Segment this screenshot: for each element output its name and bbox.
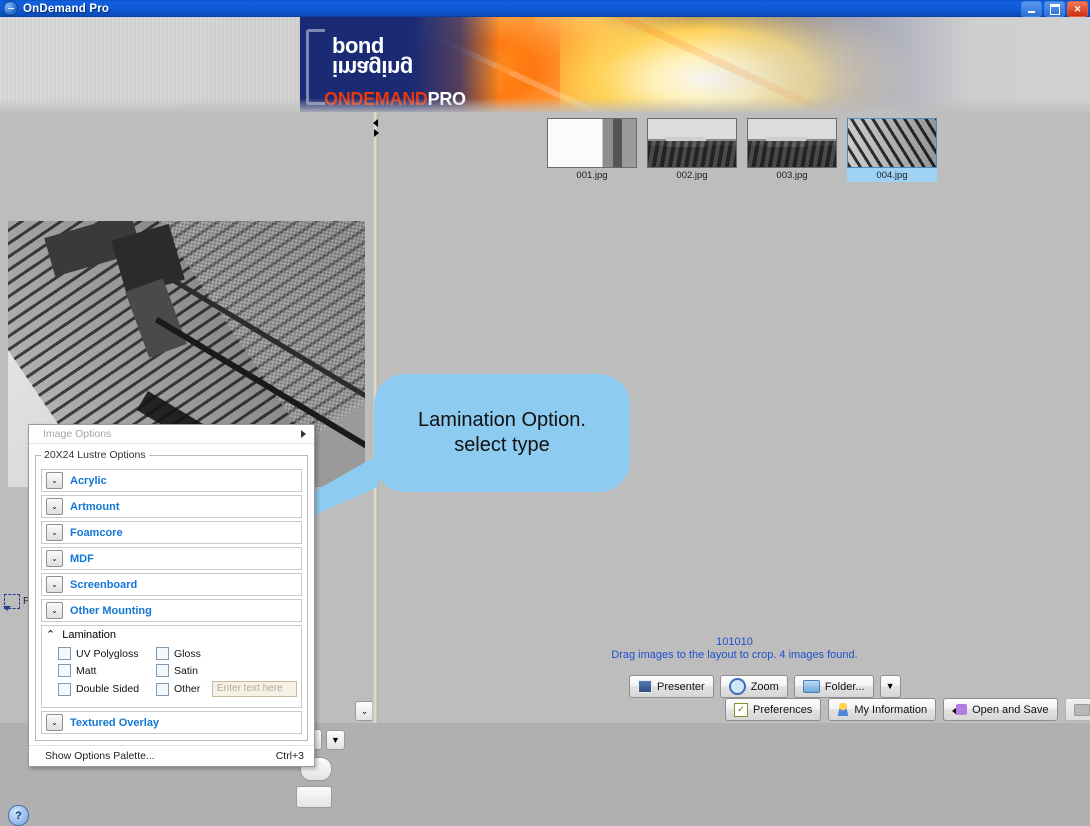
zoom-label: Zoom (751, 681, 779, 693)
collapse-icon[interactable]: ⌃ (46, 628, 55, 641)
close-button[interactable]: ✕ (1067, 1, 1088, 17)
lamination-header[interactable]: ⌃ Lamination (46, 628, 297, 641)
expand-icon[interactable]: ⌄ (46, 550, 63, 567)
thumbnail-item-selected[interactable]: 004.jpg (847, 118, 937, 182)
thumbnail-image[interactable] (747, 118, 837, 168)
folder-label: Folder... (825, 681, 865, 693)
show-options-palette-shortcut: Ctrl+3 (276, 750, 304, 762)
checkbox-box[interactable] (58, 683, 71, 696)
option-label: Lamination (62, 629, 116, 641)
preferences-label: Preferences (753, 704, 812, 716)
thumbnail-item[interactable]: 003.jpg (747, 118, 837, 182)
crop-icon (4, 594, 20, 609)
my-information-label: My Information (854, 704, 927, 716)
folder-dropdown-button[interactable]: ▼ (880, 675, 901, 698)
chevron-down-icon: ▼ (886, 682, 895, 691)
checkbox-uv-polygloss[interactable]: UV Polygloss (58, 647, 156, 660)
splitter-arrows[interactable] (372, 118, 379, 140)
preferences-icon: ✓ (734, 703, 748, 717)
image-options-popup-menu[interactable]: Image Options 20X24 Lustre Options ⌄ Acr… (28, 424, 315, 767)
option-row-lamination-expanded[interactable]: ⌃ Lamination UV Polygloss Gloss (41, 625, 302, 708)
logo-bracket-icon (306, 29, 325, 105)
status-message: Drag images to the layout to crop. 4 ima… (379, 649, 1090, 661)
zoom-button[interactable]: Zoom (720, 675, 788, 698)
option-label: Screenboard (70, 579, 137, 591)
thumbnail-label: 002.jpg (647, 168, 737, 182)
user-icon (837, 703, 849, 716)
checkbox-box[interactable] (58, 664, 71, 677)
window-controls: ✕ (1021, 1, 1088, 17)
option-row-foamcore[interactable]: ⌄ Foamcore (41, 521, 302, 544)
open-and-save-button[interactable]: Open and Save (943, 698, 1057, 721)
review-order-button: Review Order (1065, 698, 1090, 721)
thumbnail-label: 004.jpg (847, 168, 937, 182)
callout-balloon: Lamination Option. select type (374, 374, 630, 492)
other-text-input[interactable]: Enter text here (212, 681, 297, 697)
folder-button[interactable]: Folder... (794, 675, 874, 698)
lamination-checkbox-grid: UV Polygloss Gloss Matt Satin (58, 647, 297, 697)
option-label: Artmount (70, 501, 120, 513)
maximize-button[interactable] (1044, 1, 1065, 17)
checkbox-matt[interactable]: Matt (58, 664, 156, 677)
hidden-folder-button[interactable] (296, 786, 332, 808)
menu-item-image-options[interactable]: Image Options (29, 425, 314, 444)
callout-line-2: select type (454, 433, 550, 458)
expand-icon[interactable]: ⌄ (46, 498, 63, 515)
thumbnail-strip: 001.jpg 002.jpg 003.jpg 004.jpg (547, 118, 937, 182)
checkbox-label: Double Sided (76, 683, 139, 695)
zoom-icon (729, 678, 746, 695)
checkbox-box[interactable] (58, 647, 71, 660)
submenu-arrow-icon (301, 430, 306, 438)
show-options-palette-label: Show Options Palette... (45, 750, 155, 762)
checkbox-line: Matt Satin (58, 664, 297, 677)
checkbox-line: UV Polygloss Gloss (58, 647, 297, 660)
expand-icon[interactable]: ⌄ (46, 602, 63, 619)
view-toolbar: Presenter Zoom Folder... ▼ (629, 675, 901, 698)
option-row-mdf[interactable]: ⌄ MDF (41, 547, 302, 570)
option-label: Other Mounting (70, 605, 152, 617)
thumbnail-image[interactable] (547, 118, 637, 168)
thumbnail-image[interactable] (847, 118, 937, 168)
checkbox-label: Satin (174, 665, 198, 677)
checkbox-line: Double Sided Other Enter text here (58, 681, 297, 697)
folder-icon (803, 680, 820, 693)
thumbnail-item[interactable]: 002.jpg (647, 118, 737, 182)
expand-icon[interactable]: ⌄ (46, 524, 63, 541)
banner-bottom-shade (0, 98, 1090, 112)
checkbox-label: Gloss (174, 648, 201, 660)
expand-icon[interactable]: ⌄ (46, 576, 63, 593)
checkbox-box[interactable] (156, 647, 169, 660)
presenter-label: Presenter (657, 681, 705, 693)
main-toolbar: ✓ Preferences My Information Open and Sa… (725, 698, 1090, 721)
presenter-button[interactable]: Presenter (629, 675, 714, 698)
callout-line-1: Lamination Option. (418, 408, 586, 433)
checkbox-label: Other (174, 683, 200, 695)
option-row-artmount[interactable]: ⌄ Artmount (41, 495, 302, 518)
app-banner: bond imaging ONDEMANDPRO (0, 17, 1090, 112)
status-area: 101010 Drag images to the layout to crop… (379, 636, 1090, 661)
save-icon (952, 704, 967, 716)
thumbnail-item[interactable]: 001.jpg (547, 118, 637, 182)
thumbnail-label: 003.jpg (747, 168, 837, 182)
expand-icon[interactable]: ⌄ (46, 472, 63, 489)
checkbox-label: UV Polygloss (76, 648, 138, 660)
order-number: 101010 (379, 636, 1090, 648)
option-label: Foamcore (70, 527, 123, 539)
option-row-other-mounting[interactable]: ⌄ Other Mounting (41, 599, 302, 622)
presenter-icon (638, 680, 652, 693)
option-row-screenboard[interactable]: ⌄ Screenboard (41, 573, 302, 596)
menu-item-image-options-label: Image Options (43, 428, 111, 440)
checkbox-box[interactable] (156, 664, 169, 677)
checkbox-double-sided[interactable]: Double Sided (58, 683, 156, 696)
thumbnail-image[interactable] (647, 118, 737, 168)
option-label: Acrylic (70, 475, 107, 487)
open-and-save-label: Open and Save (972, 704, 1048, 716)
splitter-left-arrow-icon[interactable] (373, 119, 378, 127)
my-information-button[interactable]: My Information (828, 698, 936, 721)
preferences-button[interactable]: ✓ Preferences (725, 698, 821, 721)
logo-line-imaging: imaging (332, 55, 413, 81)
hidden-dropdown-button[interactable]: ▼ (326, 730, 345, 750)
checkbox-other[interactable]: Other (156, 683, 212, 696)
checkbox-gloss[interactable]: Gloss (156, 647, 218, 660)
option-label: MDF (70, 553, 94, 565)
window-title-bar: OnDemand Pro ✕ (0, 0, 1090, 17)
checkbox-label: Matt (76, 665, 96, 677)
options-group-title: 20X24 Lustre Options (41, 449, 149, 461)
app-icon (3, 1, 18, 16)
option-row-acrylic[interactable]: ⌄ Acrylic (41, 469, 302, 492)
checkbox-box[interactable] (156, 683, 169, 696)
window-title: OnDemand Pro (23, 3, 109, 15)
thumbnail-label: 001.jpg (547, 168, 637, 182)
order-icon (1074, 704, 1090, 716)
minimize-button[interactable] (1021, 1, 1042, 17)
checkbox-satin[interactable]: Satin (156, 664, 218, 677)
crop-tool-indicator[interactable]: P (4, 594, 30, 609)
menu-item-show-options-palette[interactable]: Show Options Palette... Ctrl+3 (29, 745, 314, 766)
help-button[interactable]: ? (8, 805, 29, 826)
options-group: 20X24 Lustre Options ⌄ Acrylic ⌄ Artmoun… (35, 449, 308, 741)
